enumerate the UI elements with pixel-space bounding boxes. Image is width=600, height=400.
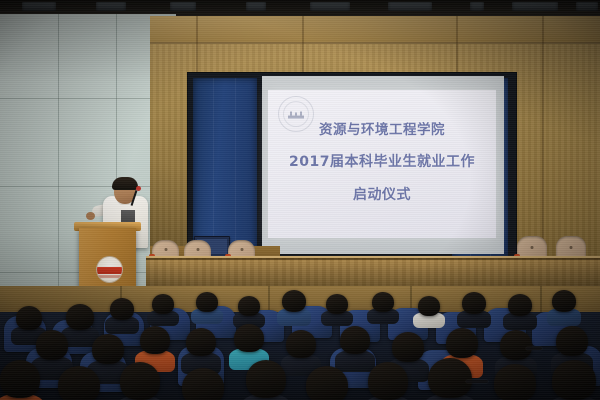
audience-head	[494, 364, 536, 400]
audience-head	[372, 292, 394, 312]
audience-head	[152, 294, 174, 314]
ceiling-fixture-icon	[96, 2, 126, 11]
audience-head	[196, 292, 218, 312]
audience-head	[182, 368, 224, 400]
audience-head	[368, 362, 408, 400]
audience-head	[0, 360, 40, 398]
curtain-panel-left	[193, 78, 257, 256]
audience-area	[0, 286, 600, 400]
ceiling-fixture-icon	[170, 2, 196, 11]
ceiling-fixture-icon	[576, 2, 598, 11]
lectern-crest-icon	[96, 256, 123, 283]
audience-head	[446, 328, 478, 358]
slide-text-block: 资源与环境工程学院 2017届本科毕业生就业工作 启动仪式	[268, 118, 496, 204]
ceiling-fixture-icon	[310, 2, 350, 11]
speaker-hand	[86, 212, 95, 220]
ceiling-fixture-icon	[470, 2, 484, 11]
ceiling-fixture-icon	[512, 2, 558, 11]
audience-head	[16, 306, 42, 330]
audience-head	[306, 366, 348, 400]
audience-head	[286, 330, 316, 358]
audience-head	[462, 292, 486, 314]
audience-head	[552, 290, 576, 312]
audience-head	[500, 330, 532, 360]
slide-line-2: 2017届本科毕业生就业工作	[268, 151, 496, 171]
audience-head	[66, 304, 94, 330]
ceiling-fixture-icon	[246, 2, 266, 11]
eyeglasses-icon	[526, 347, 542, 350]
audience-head	[140, 326, 170, 354]
audience-head	[556, 326, 588, 356]
audience-head	[428, 358, 472, 398]
audience-head	[36, 330, 68, 360]
audience-head	[120, 362, 160, 400]
slide-line-3: 启动仪式	[268, 184, 496, 204]
audience-head	[282, 290, 306, 312]
audience-head	[326, 294, 348, 314]
auditorium-photo: 资源与环境工程学院 2017届本科毕业生就业工作 启动仪式	[0, 0, 600, 400]
audience-head	[340, 326, 370, 354]
audience-head	[418, 296, 440, 316]
slide-line-1: 资源与环境工程学院	[268, 118, 496, 138]
audience-head	[234, 324, 264, 352]
audience-head	[552, 360, 596, 400]
audience-head	[110, 298, 134, 320]
audience-head	[246, 360, 286, 398]
speaker-hair	[112, 177, 138, 190]
ceiling-fixture-icon	[22, 2, 56, 11]
projection-screen: 资源与环境工程学院 2017届本科毕业生就业工作 启动仪式	[262, 76, 504, 254]
microphone-head-icon	[136, 186, 141, 191]
audience-head	[186, 328, 216, 356]
projected-slide: 资源与环境工程学院 2017届本科毕业生就业工作 启动仪式	[268, 90, 496, 238]
audience-head	[238, 296, 260, 316]
ceiling-fixture-icon	[388, 2, 432, 11]
eyeglasses-icon	[466, 380, 488, 383]
audience-head	[92, 334, 124, 364]
audience-head	[392, 332, 424, 362]
audience-head	[508, 294, 532, 316]
audience-head	[58, 366, 100, 400]
